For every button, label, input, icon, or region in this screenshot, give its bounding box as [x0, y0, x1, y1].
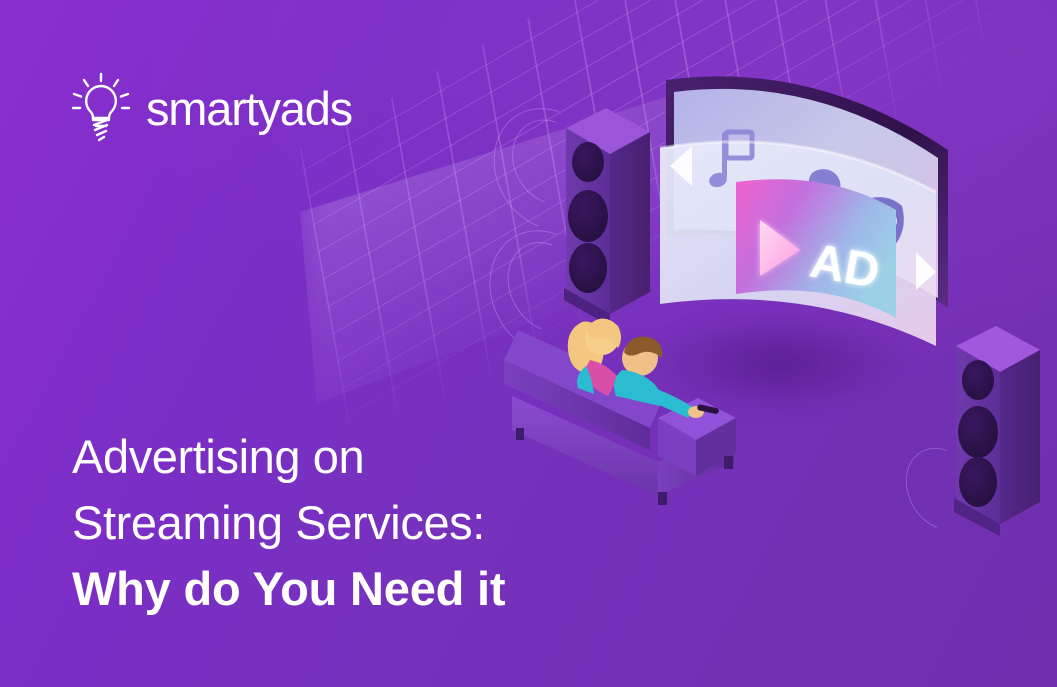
page-title: Advertising on Streaming Services: Why d… — [72, 424, 712, 622]
banner-canvas: AD — [0, 0, 1057, 687]
brand-logo[interactable]: smartyads — [70, 72, 352, 144]
headline-line-3: Why do You Need it — [72, 556, 712, 622]
speaker-driver — [958, 406, 998, 458]
speaker-driver — [572, 142, 604, 182]
speaker-side — [1000, 350, 1040, 524]
speaker-driver — [959, 457, 997, 507]
speaker-driver — [569, 243, 607, 293]
couch-leg — [724, 456, 733, 469]
right-floor-speaker — [948, 318, 1057, 558]
brand-name: smartyads — [146, 85, 352, 132]
headline-line-1: Advertising on — [72, 424, 712, 490]
speaker-side — [610, 132, 650, 314]
lightbulb-icon — [70, 72, 132, 144]
headline-line-2: Streaming Services: — [72, 490, 712, 556]
speaker-driver — [962, 360, 994, 400]
speaker-driver — [568, 190, 608, 242]
